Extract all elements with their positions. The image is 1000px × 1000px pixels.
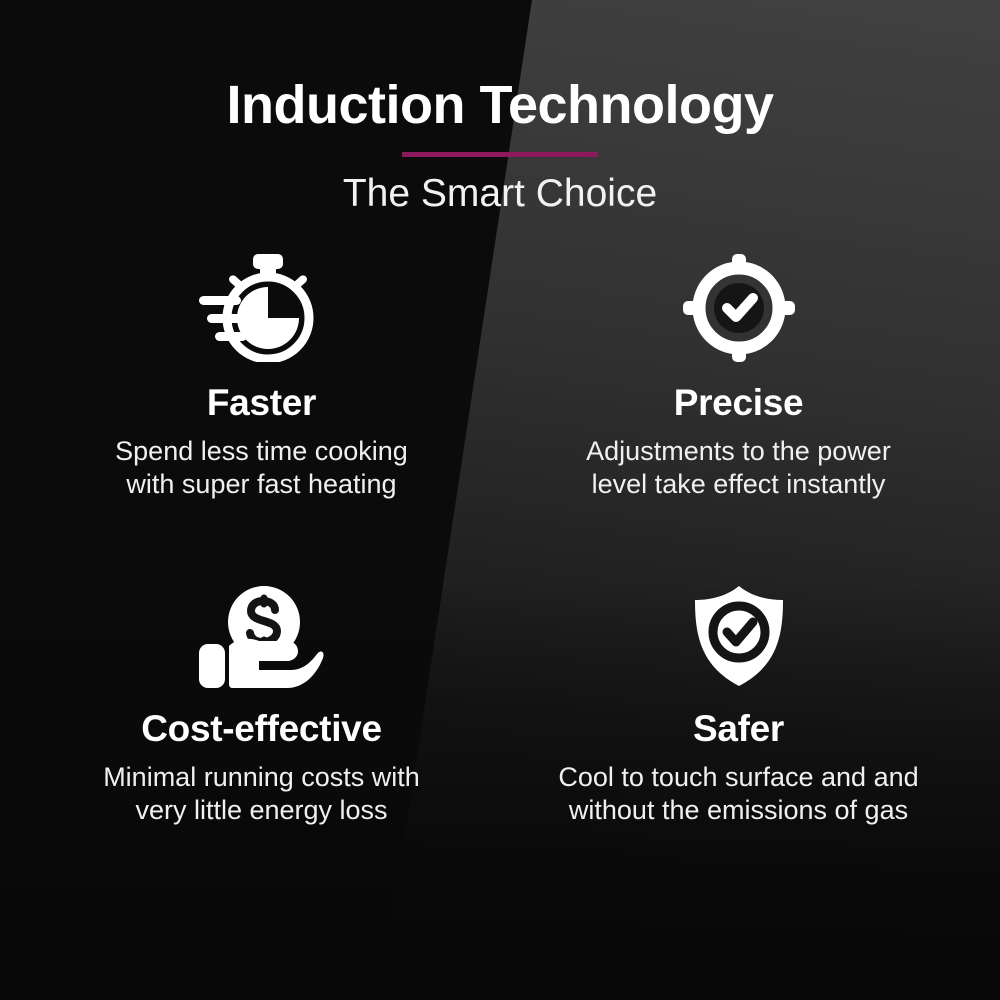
feature-description-line-2: without the emissions of gas (569, 795, 908, 825)
feature-title: Precise (674, 384, 804, 423)
feature-description-line-2: with super fast heating (126, 469, 396, 499)
title-divider (402, 152, 598, 157)
feature-title: Cost-effective (141, 710, 381, 749)
feature-description-line-2: very little energy loss (135, 795, 387, 825)
feature-card-precise: Precise Adjustments to the power level t… (505, 252, 972, 582)
feature-card-safer: Safer Cool to touch surface and and with… (505, 582, 972, 912)
feature-description-line-2: level take effect instantly (592, 469, 886, 499)
feature-card-faster: Faster Spend less time cooking with supe… (28, 252, 495, 582)
poster-content: Induction Technology The Smart Choice (0, 0, 1000, 1000)
feature-description: Minimal running costs with very little e… (103, 761, 420, 827)
feature-card-cost-effective: Cost-effective Minimal running costs wit… (28, 582, 495, 912)
feature-grid: Faster Spend less time cooking with supe… (28, 252, 972, 912)
page-subtitle: The Smart Choice (0, 173, 1000, 216)
feature-description-line-1: Adjustments to the power (586, 436, 891, 466)
feature-description: Adjustments to the power level take effe… (586, 435, 891, 501)
page-title: Induction Technology (0, 76, 1000, 134)
feature-description-line-1: Spend less time cooking (115, 436, 408, 466)
shield-check-icon (689, 582, 789, 690)
feature-title: Safer (693, 710, 784, 749)
feature-description: Cool to touch surface and and without th… (558, 761, 918, 827)
stopwatch-speed-icon (197, 252, 327, 364)
poster-header: Induction Technology The Smart Choice (0, 76, 1000, 216)
feature-title: Faster (207, 384, 316, 423)
feature-description-line-1: Cool to touch surface and and (558, 762, 918, 792)
feature-description-line-1: Minimal running costs with (103, 762, 420, 792)
target-check-icon (683, 252, 795, 364)
feature-description: Spend less time cooking with super fast … (115, 435, 408, 501)
induction-technology-poster: Induction Technology The Smart Choice (0, 0, 1000, 1000)
hand-holding-coin-icon (199, 582, 325, 690)
